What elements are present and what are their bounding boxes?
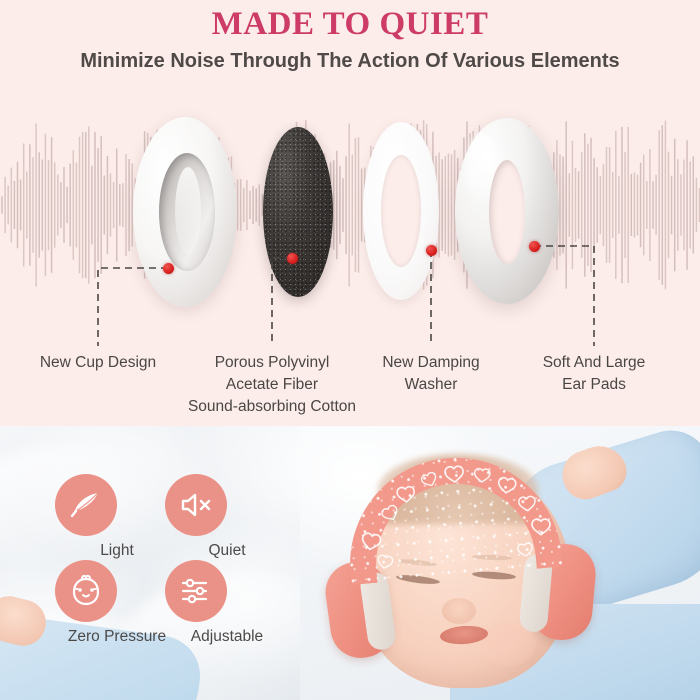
marker-dot-cup bbox=[163, 263, 174, 274]
baby-photo bbox=[300, 426, 700, 700]
part-new-cup-design bbox=[133, 117, 237, 307]
part-damping-washer bbox=[363, 122, 439, 300]
marker-dot-earpad bbox=[529, 241, 540, 252]
foam-texture bbox=[263, 127, 333, 297]
sliders-icon bbox=[178, 573, 214, 609]
callout-label-new-cup-design: New Cup Design bbox=[13, 352, 183, 374]
feature-badge-circle[interactable] bbox=[55, 474, 117, 536]
product-infographic: MADE TO QUIET Minimize Noise Through The… bbox=[0, 0, 700, 700]
lifestyle-photo-section: Light Quiet Ze bbox=[0, 426, 700, 700]
cup-inner-cavity bbox=[159, 153, 215, 271]
part-sound-absorbing-cotton bbox=[263, 127, 333, 297]
feature-badge-circle[interactable] bbox=[165, 560, 227, 622]
feature-badge-circle[interactable] bbox=[165, 474, 227, 536]
marker-dot-washer bbox=[426, 245, 437, 256]
feature-label: Adjustable bbox=[157, 628, 297, 646]
part-ear-pad bbox=[455, 118, 559, 304]
callout-label-ear-pads: Soft And Large Ear Pads bbox=[519, 352, 669, 396]
page-subtitle: Minimize Noise Through The Action Of Var… bbox=[0, 50, 700, 73]
washer-hole bbox=[381, 155, 421, 267]
feather-icon bbox=[68, 487, 104, 523]
audio-waveform-icon bbox=[0, 105, 700, 305]
diagram-section: MADE TO QUIET Minimize Noise Through The… bbox=[0, 0, 700, 426]
page-title: MADE TO QUIET bbox=[0, 6, 700, 43]
baby-face-icon bbox=[67, 572, 105, 610]
baby-nose bbox=[442, 598, 476, 624]
feature-label: Quiet bbox=[157, 542, 297, 560]
speaker-mute-icon bbox=[178, 487, 214, 523]
ear-pad-hole bbox=[489, 160, 525, 264]
marker-dot-foam bbox=[287, 253, 298, 264]
feature-badge-circle[interactable] bbox=[55, 560, 117, 622]
callout-label-sound-absorbing-cotton: Porous Polyvinyl Acetate Fiber Sound-abs… bbox=[167, 352, 377, 418]
callout-label-damping-washer: New Damping Washer bbox=[356, 352, 506, 396]
